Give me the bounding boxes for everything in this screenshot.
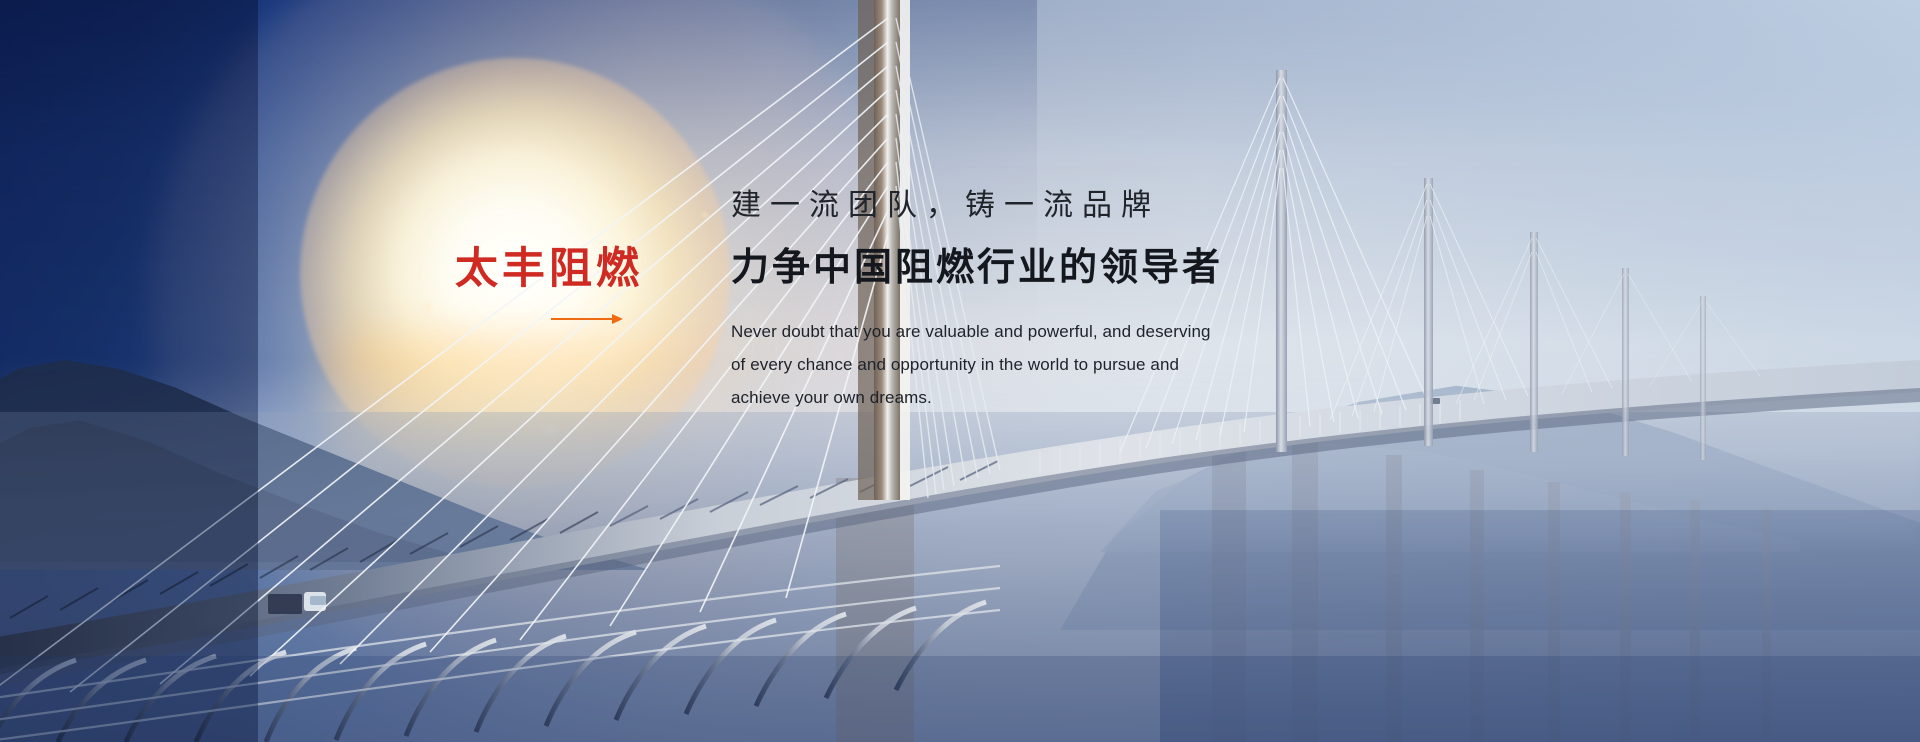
banner-paragraph: Never doubt that you are valuable and po… <box>731 315 1351 414</box>
brand-logo[interactable]: 太丰阻燃 <box>455 248 685 325</box>
arrow-shaft <box>551 318 617 320</box>
hero-banner: 太丰阻燃 建一流团队，铸一流品牌 力争中国阻燃行业的领导者 Never doub… <box>0 0 1920 742</box>
brand-logo-text: 太丰阻燃 <box>455 248 685 291</box>
banner-content: 太丰阻燃 建一流团队，铸一流品牌 力争中国阻燃行业的领导者 Never doub… <box>0 0 1920 742</box>
banner-copy: 建一流团队，铸一流品牌 力争中国阻燃行业的领导者 Never doubt tha… <box>731 188 1351 414</box>
arrow-right-icon <box>551 313 623 325</box>
headline-sub: 建一流团队，铸一流品牌 <box>731 188 1351 224</box>
page-title: 力争中国阻燃行业的领导者 <box>731 245 1351 290</box>
arrow-head <box>612 314 623 324</box>
paragraph-line: Never doubt that you are valuable and po… <box>731 315 1351 348</box>
paragraph-line: of every chance and opportunity in the w… <box>731 348 1351 381</box>
paragraph-line: achieve your own dreams. <box>731 381 1351 414</box>
